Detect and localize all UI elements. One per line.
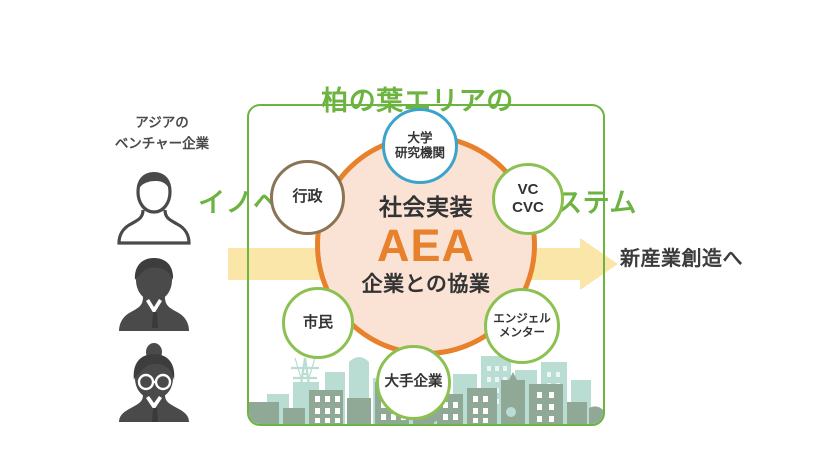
node-university-label: 大学 研究機関 [395,131,445,162]
left-caption: アジアの ベンチャー企業 [92,112,232,154]
node-big-company[interactable]: 大手企業 [376,345,451,420]
right-caption: 新産業創造へ [620,242,743,271]
node-university[interactable]: 大学 研究機関 [382,108,458,184]
avatar-group [112,166,196,424]
node-citizen[interactable]: 市民 [282,287,354,359]
left-caption-line2: ベンチャー企業 [92,133,232,154]
person-filled-female-glasses-icon [112,342,196,424]
node-angel-mentor[interactable]: エンジェル メンター [484,288,560,364]
node-government[interactable]: 行政 [270,160,345,235]
node-vc-cvc[interactable]: VC CVC [492,163,564,235]
left-caption-line1: アジアの [92,112,232,133]
core-acronym: AEA [377,221,475,271]
core-top-label: 社会実装 [379,193,473,221]
person-filled-male-suit-icon [112,254,196,336]
node-citizen-label: 市民 [303,314,333,332]
node-angel-mentor-label: エンジェル メンター [493,312,551,340]
node-government-label: 行政 [292,188,322,206]
person-outline-male-icon [112,166,196,248]
node-vc-cvc-label: VC CVC [512,181,544,218]
core-bottom-label: 企業との協業 [362,271,491,298]
avatar [112,166,196,248]
node-big-company-label: 大手企業 [385,374,443,392]
avatar [112,342,196,424]
avatar [112,254,196,336]
